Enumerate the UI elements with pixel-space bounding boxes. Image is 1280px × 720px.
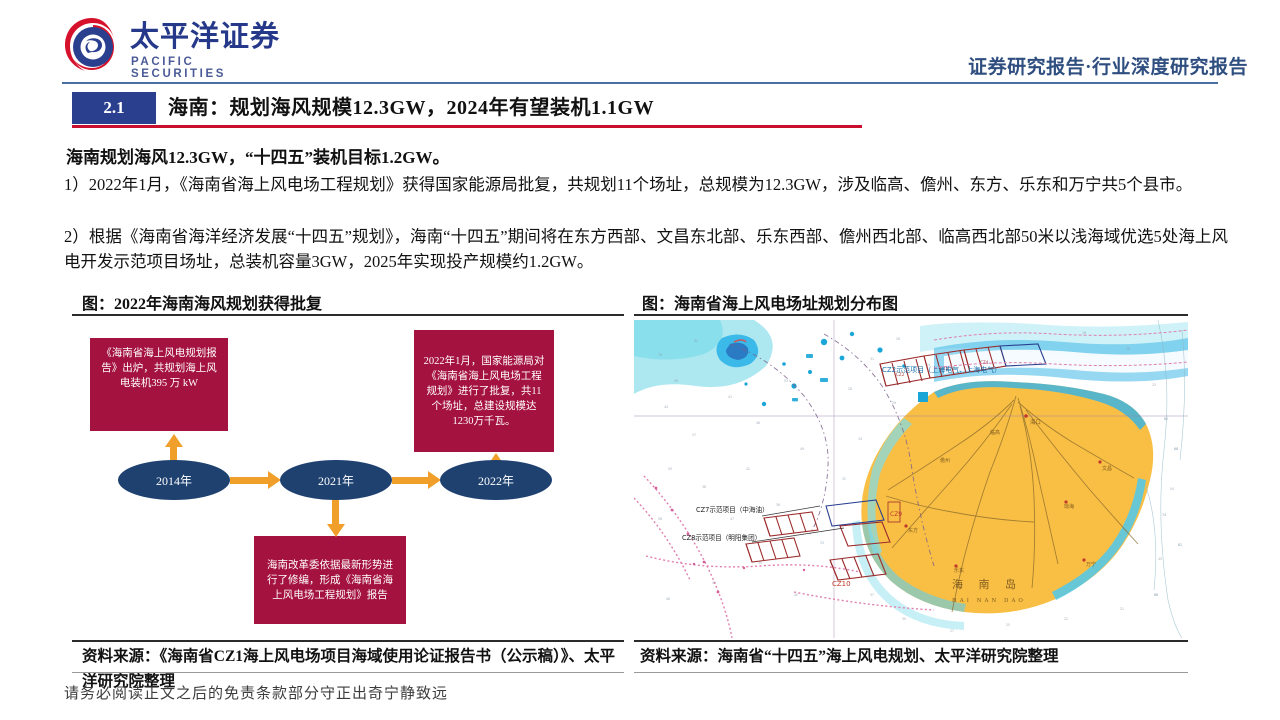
pacific-securities-logo-icon (62, 16, 122, 74)
section-title: 海南：规划海风规模12.3GW，2024年有望装机1.1GW (168, 93, 654, 123)
svg-text:55: 55 (668, 467, 672, 471)
svg-text:文昌: 文昌 (1102, 465, 1112, 472)
right-source-divider (634, 640, 1188, 642)
map-label-cz7: CZ7示范项目（中海油） (696, 505, 769, 514)
diagram-box-2022: 2022年1月，国家能源局对《海南省海上风电场工程规划》进行了批复，共11个场址… (414, 330, 554, 452)
svg-text:34: 34 (858, 437, 862, 441)
svg-text:琼海: 琼海 (1064, 503, 1074, 510)
svg-text:81: 81 (1178, 543, 1182, 547)
svg-text:CZ4: CZ4 (980, 360, 989, 365)
svg-text:万宁: 万宁 (1086, 561, 1096, 568)
diagram-node-2022-label: 2022年 (478, 472, 514, 489)
hainan-offshore-wind-map: 763952 443741 465349 423855 364751 58354… (634, 320, 1188, 638)
arrow-2014-to-2021-shaft (230, 477, 268, 484)
svg-text:27: 27 (950, 629, 954, 633)
svg-text:53: 53 (784, 379, 788, 383)
arrow-2021-down-shaft (332, 498, 339, 524)
arrow-2021-down-head (327, 524, 345, 537)
svg-text:37: 37 (692, 433, 696, 437)
map-label-cz8: CZ8示范项目（明阳集团） (682, 533, 761, 542)
lead-statement: 海南规划海风12.3GW，“十四五”装机目标1.2GW。 (66, 146, 1226, 170)
svg-text:25: 25 (1006, 623, 1010, 627)
svg-text:33: 33 (820, 541, 824, 545)
svg-text:30: 30 (902, 617, 906, 621)
svg-text:49: 49 (800, 447, 804, 451)
svg-text:18: 18 (1082, 331, 1086, 335)
left-caption-divider (72, 314, 624, 316)
svg-text:76: 76 (658, 353, 662, 357)
svg-text:45: 45 (1158, 557, 1162, 561)
logo-english-name: PACIFIC SECURITIES (131, 56, 292, 80)
svg-text:52: 52 (694, 339, 698, 343)
svg-text:29: 29 (892, 401, 896, 405)
svg-text:62: 62 (1164, 417, 1168, 421)
svg-text:26: 26 (896, 337, 900, 341)
svg-text:乐东: 乐东 (954, 567, 964, 574)
svg-text:临高: 临高 (990, 429, 1000, 436)
svg-text:28: 28 (848, 387, 852, 391)
diagram-node-2014-label: 2014年 (156, 472, 192, 489)
section-number-badge: 2.1 (72, 92, 156, 124)
slide: 太平洋证券 PACIFIC SECURITIES 证券研究报告·行业深度研究报告… (0, 0, 1280, 720)
arrow-2014-up-head (165, 434, 183, 447)
section-underline (72, 125, 862, 128)
map-svg: 763952 443741 465349 423855 364751 58354… (634, 320, 1188, 638)
diagram-box-2014: 《海南省海上风电规划报告》出炉，共规划海上风电装机395 万 kW (90, 338, 228, 431)
svg-text:47: 47 (730, 517, 734, 521)
svg-text:39: 39 (674, 379, 678, 383)
map-label-hainan-island: 海 南 岛 (952, 577, 1022, 591)
svg-text:48: 48 (666, 597, 670, 601)
right-figure-caption: 图：海南省海上风电场址规划分布图 (642, 290, 898, 314)
left-footer-divider (72, 672, 624, 673)
company-logo: 太平洋证券 PACIFIC SECURITIES (62, 14, 292, 76)
map-label-hainan-pinyin: HAI NAN DAO (952, 598, 1026, 604)
svg-text:32: 32 (842, 477, 846, 481)
diagram-box-2021-text: 海南改革委依据最新形势进行了修编，形成《海南省海上风电场工程规划》报告 (263, 558, 397, 603)
arrow-2021-to-2022-shaft (392, 477, 428, 484)
map-label-cz10: CZ10 (832, 580, 851, 588)
svg-text:海口: 海口 (1030, 418, 1041, 426)
left-figure-panel: 《海南省海上风电规划报告》出炉，共规划海上风电装机395 万 kW 2022年1… (72, 320, 624, 638)
svg-text:23: 23 (1152, 383, 1156, 387)
svg-text:31: 31 (870, 357, 874, 361)
svg-text:38: 38 (702, 485, 706, 489)
diagram-box-2014-text: 《海南省海上风电规划报告》出炉，共规划海上风电装机395 万 kW (99, 346, 219, 391)
svg-text:46: 46 (756, 421, 760, 425)
svg-text:儋州: 儋州 (940, 457, 950, 464)
logo-chinese-name: 太平洋证券 (130, 20, 280, 54)
svg-text:54: 54 (1170, 487, 1174, 491)
svg-text:20: 20 (1126, 347, 1130, 351)
diagram-node-2014: 2014年 (118, 460, 230, 500)
diagram-node-2021: 2021年 (280, 460, 392, 500)
svg-text:74: 74 (1162, 513, 1166, 517)
svg-text:37: 37 (870, 593, 874, 597)
left-figure-caption: 图：2022年海南海风规划获得批复 (82, 290, 322, 314)
left-source-divider (72, 640, 624, 642)
svg-text:68: 68 (1174, 447, 1178, 451)
map-label-cz2: CZ2示范项目（上海电气、上海电气） (882, 365, 1001, 374)
page-disclaimer: 请务必阅读正文之后的免责条款部分守正出奇宁静致远 (64, 682, 448, 703)
svg-text:21: 21 (1120, 607, 1124, 611)
map-label-cz9: CZ9 (890, 511, 902, 518)
report-type-label: 证券研究报告·行业深度研究报告 (968, 52, 1248, 79)
svg-text:58: 58 (658, 517, 662, 521)
diagram-box-2021: 海南改革委依据最新形势进行了修编，形成《海南省海上风电场工程规划》报告 (254, 536, 406, 624)
svg-text:42: 42 (746, 467, 750, 471)
svg-text:44: 44 (664, 405, 668, 409)
right-caption-divider (634, 314, 1188, 316)
header-divider (62, 82, 1218, 84)
right-figure-panel: 763952 443741 465349 423855 364751 58354… (634, 320, 1188, 638)
body-paragraph-1: 1）2022年1月，《海南省海上风电场工程规划》获得国家能源局批复，共规划11个… (64, 172, 1228, 197)
svg-text:36: 36 (776, 503, 780, 507)
svg-text:41: 41 (728, 395, 732, 399)
diagram-box-2022-text: 2022年1月，国家能源局对《海南省海上风电场工程规划》进行了批复，共11个场址… (423, 354, 545, 429)
svg-text:40: 40 (794, 593, 798, 597)
right-source-text: 资料来源：海南省“十四五”海上风电规划、太平洋研究院整理 (640, 644, 1188, 669)
svg-text:22: 22 (1064, 617, 1068, 621)
body-paragraph-2: 2）根据《海南省海洋经济发展“十四五”规划》，海南“十四五”期间将在东方西部、文… (64, 224, 1228, 274)
svg-text:88: 88 (1154, 593, 1158, 597)
diagram-node-2022: 2022年 (440, 460, 552, 500)
svg-text:东方: 东方 (908, 527, 918, 534)
diagram-node-2021-label: 2021年 (318, 472, 354, 489)
page-header: 太平洋证券 PACIFIC SECURITIES 证券研究报告·行业深度研究报告 (0, 0, 1280, 88)
right-footer-divider (634, 672, 1188, 673)
